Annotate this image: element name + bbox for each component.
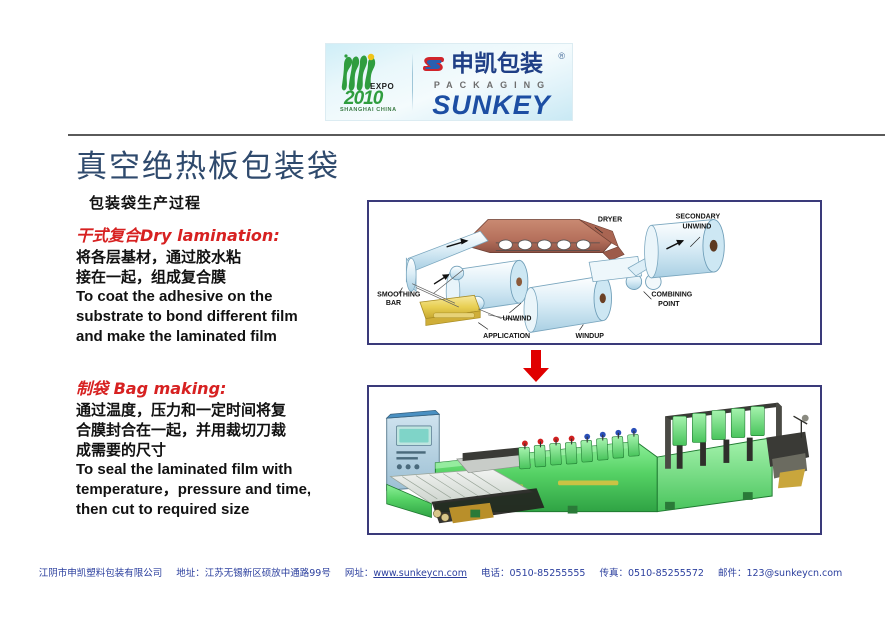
bag-machine-illustration [369,387,820,533]
title-divider-rule [68,134,885,136]
footer-phone: 0510-85255555 [510,568,586,579]
label-smoothing-bar: SMOOTHING [377,291,421,298]
section-cn-line: 接在一起，组成复合膜 [76,267,298,287]
footer-phone-label: 电话： [481,568,510,579]
sunkey-packaging-word: PACKAGING [419,80,566,90]
footer-fax: 0510-85255572 [628,568,704,579]
expo-2010-logo: EXPO 2010 SHANGHAI CHINA [326,44,412,120]
brand-logo-banner: EXPO 2010 SHANGHAI CHINA 申凯包装 ® PACKAGIN… [325,43,573,121]
section-cn-line: 合膜封合在一起，并用裁切刀裁 [76,420,311,440]
footer-company: 江阴市申凯塑料包装有限公司 [39,568,163,579]
section-en-line: then cut to required size [76,500,311,520]
section-cn-line: 将各层基材，通过胶水粘 [76,247,298,267]
sunkey-logo: 申凯包装 ® PACKAGING SUNKEY [413,44,572,120]
footer-website-link[interactable]: www.sunkeycn.com [373,568,467,579]
label-unwind: UNWIND [503,316,532,323]
section-en-line: substrate to bond different film [76,307,298,327]
dry-lamination-diagram: DRYER SECONDARY UNWIND SMOOTHING BAR UNW… [367,200,822,345]
footer-email: 123@sunkeycn.com [746,568,842,579]
footer-address: 江苏无锡新区硕放中通路99号 [205,568,331,579]
label-smoothing-bar-2: BAR [386,300,401,307]
section-en-line: To coat the adhesive on the [76,287,298,307]
footer-contact-bar: 江阴市申凯塑料包装有限公司地址：江苏无锡新区硕放中通路99号网址：www.sun… [0,565,895,579]
bag-making-machine-photo [367,385,822,535]
label-combining-point: COMBINING [651,291,692,298]
expo-city-label: SHANGHAI CHINA [340,107,397,113]
section-en-line: temperature，pressure and time, [76,480,311,500]
label-application: APPLICATION [483,333,530,340]
page-subtitle: 包装袋生产过程 [89,192,201,213]
registered-trademark-icon: ® [558,51,565,61]
packaging-text: PACKAGING [434,80,551,90]
section-en-line: and make the laminated film [76,327,298,347]
section-bag-making: 制袋 Bag making: 通过温度，压力和一定时间将复 合膜封合在一起，并用… [76,375,311,520]
section-en-line: To seal the laminated film with [76,460,311,480]
section-heading: 制袋 Bag making: [76,375,311,399]
sunkey-chinese-name: 申凯包装 [451,51,543,77]
section-dry-lamination: 干式复合Dry lamination: 将各层基材，通过胶水粘 接在一起，组成复… [76,222,298,347]
lamination-diagram-illustration: DRYER SECONDARY UNWIND SMOOTHING BAR UNW… [369,202,820,343]
footer-address-label: 地址： [176,568,205,579]
sunkey-brand-word: SUNKEY [413,90,570,121]
label-secondary-unwind-2: UNWIND [683,223,712,230]
label-combining-point-2: POINT [658,301,680,308]
section-heading: 干式复合Dry lamination: [76,222,298,246]
label-dryer: DRYER [598,216,622,223]
footer-email-label: 邮件： [718,568,747,579]
page-title: 真空绝热板包装袋 [76,141,340,186]
footer-website-label: 网址： [345,568,374,579]
footer-fax-label: 传真： [599,568,628,579]
label-windup: WINDUP [576,333,605,340]
down-arrow-icon [519,349,553,383]
section-cn-line: 成需要的尺寸 [76,440,311,460]
label-secondary-unwind: SECONDARY [676,214,721,221]
section-cn-line: 通过温度，压力和一定时间将复 [76,400,311,420]
sunkey-s-icon [421,54,447,78]
